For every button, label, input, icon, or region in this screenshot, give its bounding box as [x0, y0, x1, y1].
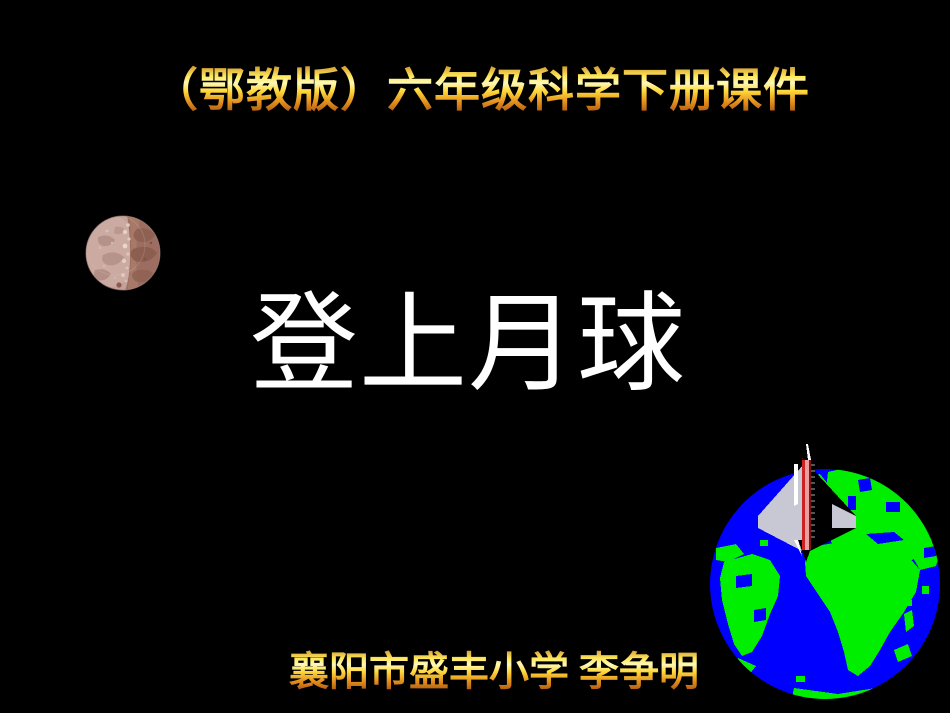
- page-title: 登上月球: [250, 292, 686, 400]
- moon-illustration: [85, 215, 161, 291]
- page-subtitle-header: （鄂教版）六年级科学下册课件: [152, 54, 810, 120]
- author-credit: 襄阳市盛丰小学 李争明: [289, 639, 699, 697]
- slide-canvas: （鄂教版）六年级科学下册课件: [0, 0, 950, 713]
- earth-globe-illustration: [708, 444, 944, 713]
